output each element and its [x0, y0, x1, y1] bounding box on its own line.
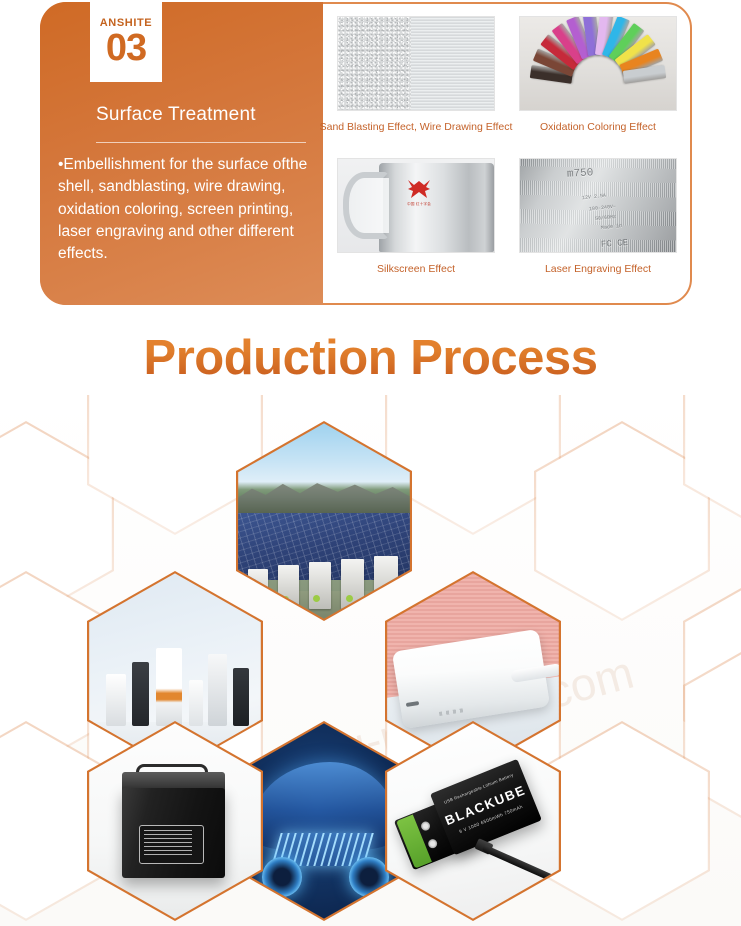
sample-caption: Oxidation Coloring Effect	[540, 121, 656, 133]
mug-logo-text: 中国 红十字会	[407, 202, 431, 207]
anodized-bars-fan	[520, 17, 676, 110]
sample-caption: Laser Engraving Effect	[545, 263, 651, 275]
anshite-badge: ANSHITE 03	[90, 2, 162, 82]
sample-caption: Silkscreen Effect	[377, 263, 455, 275]
sample-row-top: Sand Blasting Effect, Wire Drawing Effec…	[325, 16, 690, 156]
label-text-lines	[144, 830, 192, 857]
battery-terminal	[419, 820, 431, 832]
mug-handle	[343, 172, 390, 239]
sample-row-bottom: 中国 红十字会 Silkscreen Effect m75012V 2.5A10…	[325, 158, 690, 298]
storage-cabinet	[156, 648, 182, 726]
laser-etched-text: FC CE	[601, 238, 629, 250]
charging-cable	[482, 845, 559, 888]
battery-container	[341, 559, 364, 609]
battery-container	[248, 569, 268, 609]
battery-container	[309, 562, 331, 609]
laser-engraving-image: m75012V 2.5A100-240V~50/60HzMade inFC CE	[519, 158, 677, 253]
badge-number-label: 03	[106, 29, 146, 69]
wiredraw-texture	[411, 17, 494, 110]
laser-etched-text: 12V 2.5A	[582, 193, 607, 201]
panel-heading: Surface Treatment	[96, 104, 256, 126]
battery-container	[278, 565, 299, 609]
battery-terminal	[426, 838, 438, 850]
etched-metal-plate: m75012V 2.5A100-240V~50/60HzMade inFC CE	[520, 159, 676, 252]
laser-etched-text: 50/60Hz	[595, 214, 617, 222]
sample-cell-oxidation: Oxidation Coloring Effect	[507, 16, 689, 156]
sandblast-texture	[338, 17, 411, 110]
panel-description: •Embellishment for the surface ofthe she…	[58, 154, 316, 266]
page-title: Production Process	[0, 330, 741, 386]
laser-etched-text: Made in	[601, 223, 623, 231]
storage-cabinet	[208, 654, 227, 726]
storage-cabinet	[106, 674, 126, 726]
panel-divider	[96, 142, 306, 143]
storage-cabinet	[132, 662, 149, 726]
surface-treatment-section: ANSHITE 03 Surface Treatment •Embellishm…	[0, 0, 741, 312]
surface-treatment-panel: ANSHITE 03 Surface Treatment •Embellishm…	[40, 2, 323, 305]
mug-body	[379, 163, 494, 252]
sample-caption: Sand Blasting Effect, Wire Drawing Effec…	[320, 121, 513, 133]
surface-sample-grid: Sand Blasting Effect, Wire Drawing Effec…	[325, 10, 690, 298]
sample-cell-silkscreen: 中国 红十字会 Silkscreen Effect	[325, 158, 507, 298]
production-process-honeycomb: www.stamping-molding.com	[0, 395, 741, 926]
sample-cell-sandblasting: Sand Blasting Effect, Wire Drawing Effec…	[325, 16, 507, 156]
storage-cabinet	[189, 680, 203, 726]
oxidation-coloring-image	[519, 16, 677, 111]
battery-spec-label	[139, 825, 204, 864]
wheel	[262, 857, 302, 897]
wheel	[349, 857, 389, 897]
battery-container	[374, 556, 398, 609]
laser-etched-text: m750	[567, 168, 594, 181]
silkscreen-mug-image: 中国 红十字会	[337, 158, 495, 253]
storage-cabinet	[233, 668, 249, 726]
printed-logo-icon	[404, 178, 434, 200]
laser-etched-text: 100-240V~	[588, 203, 615, 212]
mountain-range	[238, 476, 410, 515]
sand-blasting-wire-drawing-image	[337, 16, 495, 111]
sample-cell-laser: m75012V 2.5A100-240V~50/60HzMade inFC CE…	[507, 158, 689, 298]
